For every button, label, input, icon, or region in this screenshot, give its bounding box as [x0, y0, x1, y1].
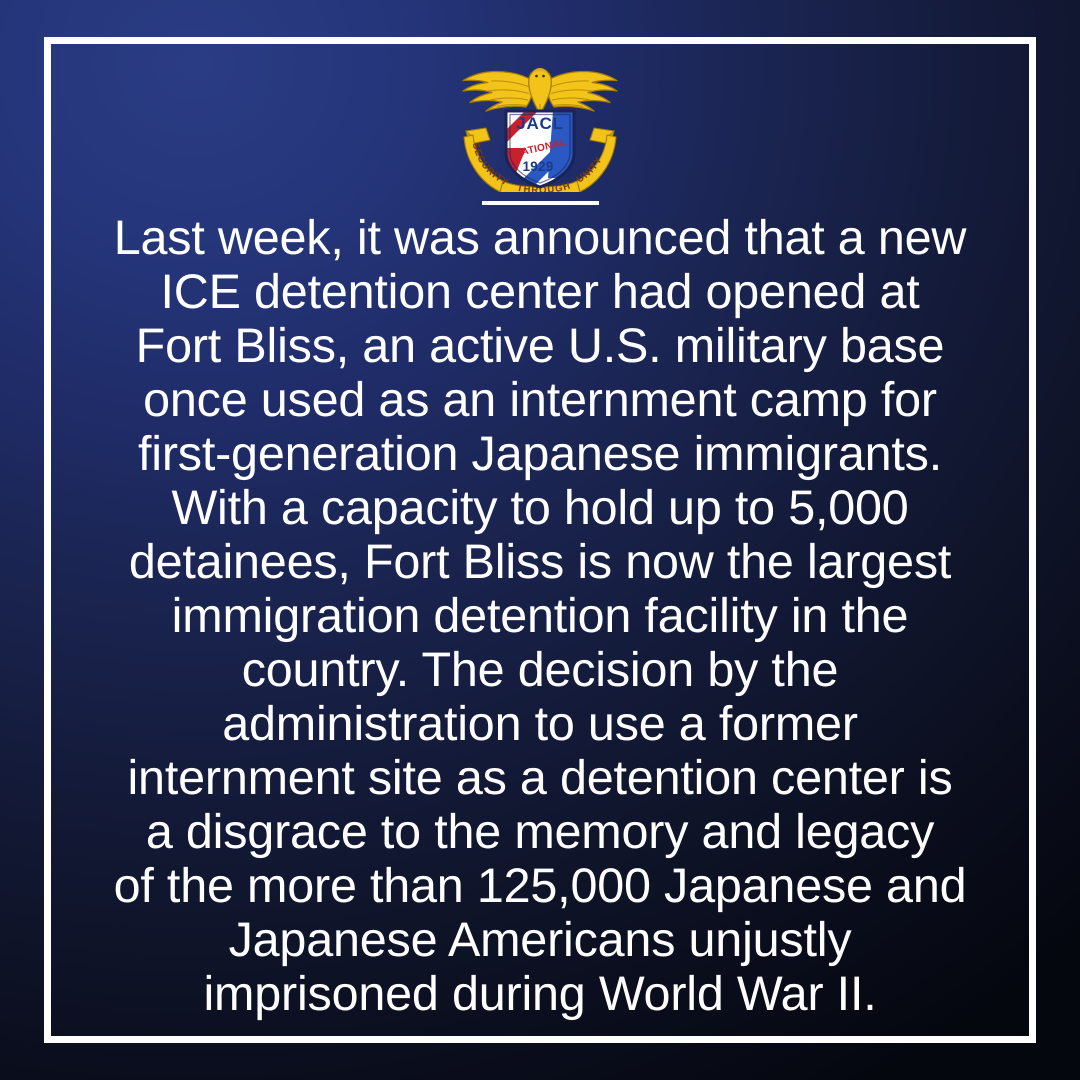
statement-graphic: SECURITY UNITY THROUGH: [0, 0, 1080, 1080]
divider-rule: [482, 201, 599, 205]
statement-body: Last week, it was announced that a new I…: [56, 211, 1024, 1021]
shield: JACL NATIONAL 1929: [497, 106, 577, 190]
content-column: SECURITY UNITY THROUGH: [51, 44, 1029, 1036]
svg-text:1929: 1929: [522, 159, 553, 174]
svg-text:JACL: JACL: [516, 114, 563, 133]
jacl-logo: SECURITY UNITY THROUGH: [455, 65, 625, 192]
